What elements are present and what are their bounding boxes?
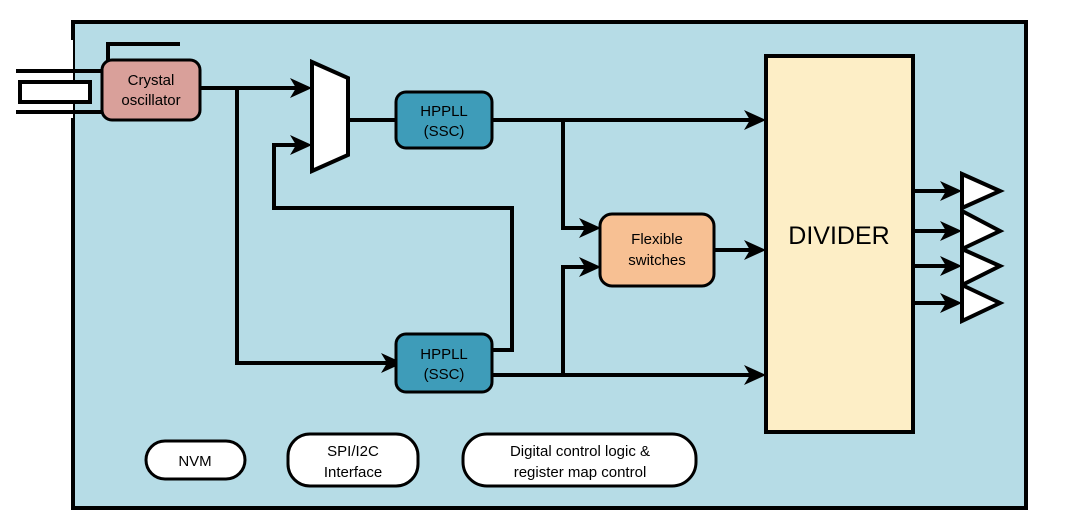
divider-block[interactable]: DIVIDER: [766, 56, 913, 432]
flexible-switches-block[interactable]: Flexible switches: [600, 214, 714, 286]
multiplexer-icon[interactable]: [312, 62, 348, 171]
spi-i2c-label-2: Interface: [324, 464, 382, 481]
hppll-bottom-label-2: (SSC): [424, 366, 465, 383]
crystal-oscillator-label-2: oscillator: [121, 92, 180, 109]
digital-control-label-2: register map control: [514, 464, 647, 481]
flexible-switches-label-1: Flexible: [631, 231, 683, 248]
hppll-top-label-1: HPPLL: [420, 103, 468, 120]
hppll-bottom-label-1: HPPLL: [420, 346, 468, 363]
block-diagram-canvas: Crystal oscillator HPPLL (SSC) HPPLL (SS…: [0, 0, 1067, 530]
spi-i2c-label-1: SPI/I2C: [327, 443, 379, 460]
crystal-oscillator-block[interactable]: Crystal oscillator: [102, 60, 200, 120]
nvm-label: NVM: [178, 453, 211, 470]
hppll-top-block[interactable]: HPPLL (SSC): [396, 92, 492, 148]
hppll-bottom-block[interactable]: HPPLL (SSC): [396, 334, 492, 392]
divider-label: DIVIDER: [788, 222, 889, 250]
crystal-oscillator-label-1: Crystal: [128, 72, 175, 89]
nvm-block[interactable]: NVM: [146, 441, 245, 479]
spi-i2c-interface-block[interactable]: SPI/I2C Interface: [288, 434, 418, 486]
flexible-switches-label-2: switches: [628, 252, 686, 269]
hppll-top-label-2: (SSC): [424, 123, 465, 140]
digital-control-block[interactable]: Digital control logic & register map con…: [463, 434, 696, 486]
digital-control-label-1: Digital control logic &: [510, 443, 650, 460]
